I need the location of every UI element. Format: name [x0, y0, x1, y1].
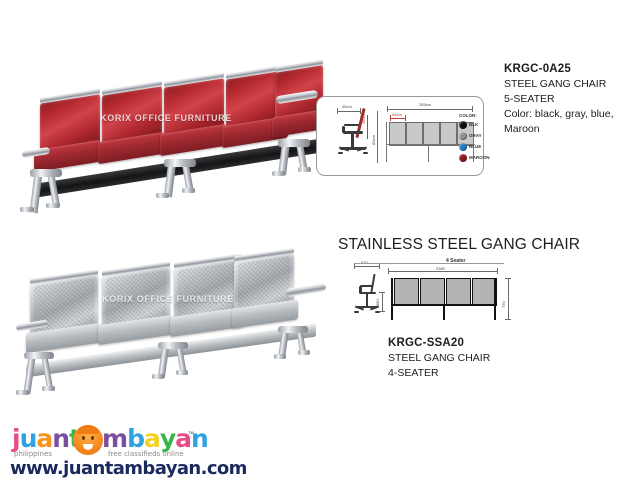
logo-trademark: TM [188, 430, 194, 435]
chair-foot [298, 167, 311, 172]
chair-foot [156, 193, 169, 198]
legend-item-blk: BLK [459, 119, 490, 130]
side-view-chair-icon [354, 272, 394, 326]
chair-foot [176, 370, 188, 375]
chair-leg-hub [278, 139, 310, 147]
dim-height: 790 [501, 301, 506, 308]
diagram-seat [389, 122, 406, 146]
chair-foot [16, 390, 29, 395]
dim-side-depth: 45cm [342, 104, 352, 109]
chair-leg-hub [30, 169, 62, 177]
dim-total-height: 80cm [371, 135, 376, 145]
legend-item-gray: GRAY [459, 130, 490, 141]
legend-label: BLUE [469, 144, 481, 149]
legend-label: MAROON [469, 155, 490, 160]
product-seater: 5-SEATER [504, 92, 636, 107]
logo-letter: j [12, 426, 20, 452]
legend-item-maroon: MAROON [459, 152, 490, 163]
diagram-seat [420, 278, 445, 305]
logo-wordmark: juantmbayan [12, 426, 208, 452]
product-name: STEEL GANG CHAIR [388, 351, 568, 366]
logo-tagline-left: philippines [14, 450, 52, 458]
technical-diagram-4-seater: 670 380 4 Seater 2380 790 [348, 258, 544, 330]
swatch-blue [459, 143, 467, 151]
diagram-seat [446, 278, 471, 305]
dim-overall-width: 285cm [419, 102, 431, 107]
chair-leg-hub [278, 326, 308, 333]
logo-url[interactable]: www.juantambayan.com [10, 458, 247, 479]
chair-foot [152, 374, 164, 379]
chair-foot [20, 207, 34, 212]
diagram-seat [423, 122, 440, 146]
product-name: STEEL GANG CHAIR [504, 77, 636, 92]
product-info-bottom: KRGC-SSA20 STEEL GANG CHAIR 4-SEATER [388, 336, 568, 381]
legend-label: GRAY [469, 133, 482, 138]
logo-tagline-right: free classifieds online [108, 450, 184, 458]
product-listing-page: KORIX OFFICE FURNITURE 45cm 45cm 80cm [0, 0, 640, 480]
product-code: KRGC-SSA20 [388, 336, 568, 351]
chair-foot [298, 350, 310, 355]
logo-letter: u [20, 426, 37, 452]
chair-leg-hub [158, 342, 188, 349]
logo-letter: y [160, 426, 175, 452]
legend-title: COLOR: [459, 113, 490, 118]
logo-letter: a [144, 426, 160, 452]
swatch-maroon [459, 154, 467, 162]
chair-foot [182, 188, 195, 193]
product-seater: 4-SEATER [388, 366, 568, 381]
legend-item-blue: BLUE [459, 141, 490, 152]
product-info-top: KRGC-0A25 STEEL GANG CHAIR 5-SEATER Colo… [504, 62, 636, 137]
color-legend: COLOR: BLK GRAY BLUE MAROON [459, 113, 490, 163]
logo-letter: a [36, 426, 52, 452]
logo-letter: m [102, 426, 127, 452]
swatch-gray [459, 132, 467, 140]
dim-back-height: 45cm [361, 114, 366, 124]
logo-letter: b [127, 426, 144, 452]
swatch-black [459, 121, 467, 129]
legend-label: BLK [469, 122, 478, 127]
product-colors-line1: Color: black, gray, blue, [504, 107, 636, 122]
dim-seat-height: 380 [375, 299, 380, 306]
diagram-seat [406, 122, 423, 146]
chair-leg-hub [24, 352, 54, 359]
chair-foot [46, 203, 60, 208]
dim-seat-width: 54cm [392, 112, 402, 117]
dim-overall-width: 2380 [436, 266, 445, 271]
product-code: KRGC-0A25 [504, 62, 636, 77]
logo-letter: n [52, 426, 69, 452]
chair-foot [274, 354, 286, 359]
juantambayan-logo[interactable]: juantmbayan TM philippines free classifi… [10, 424, 210, 476]
diagram-seat [394, 278, 419, 305]
chair-leg-hub [164, 159, 196, 167]
chair-foot [272, 171, 285, 176]
product-colors-line2: Maroon [504, 122, 636, 137]
section-title: STAINLESS STEEL GANG CHAIR [338, 236, 580, 254]
logo-mascot-icon [73, 425, 103, 455]
chair-foot [42, 386, 55, 391]
diagram-seat [440, 122, 457, 146]
dim-seater-label: 4 Seater [446, 258, 465, 264]
product-photo-steel-gang-chair: KORIX OFFICE FURNITURE [8, 248, 328, 413]
product-photo-red-gang-chair: KORIX OFFICE FURNITURE [10, 45, 322, 220]
